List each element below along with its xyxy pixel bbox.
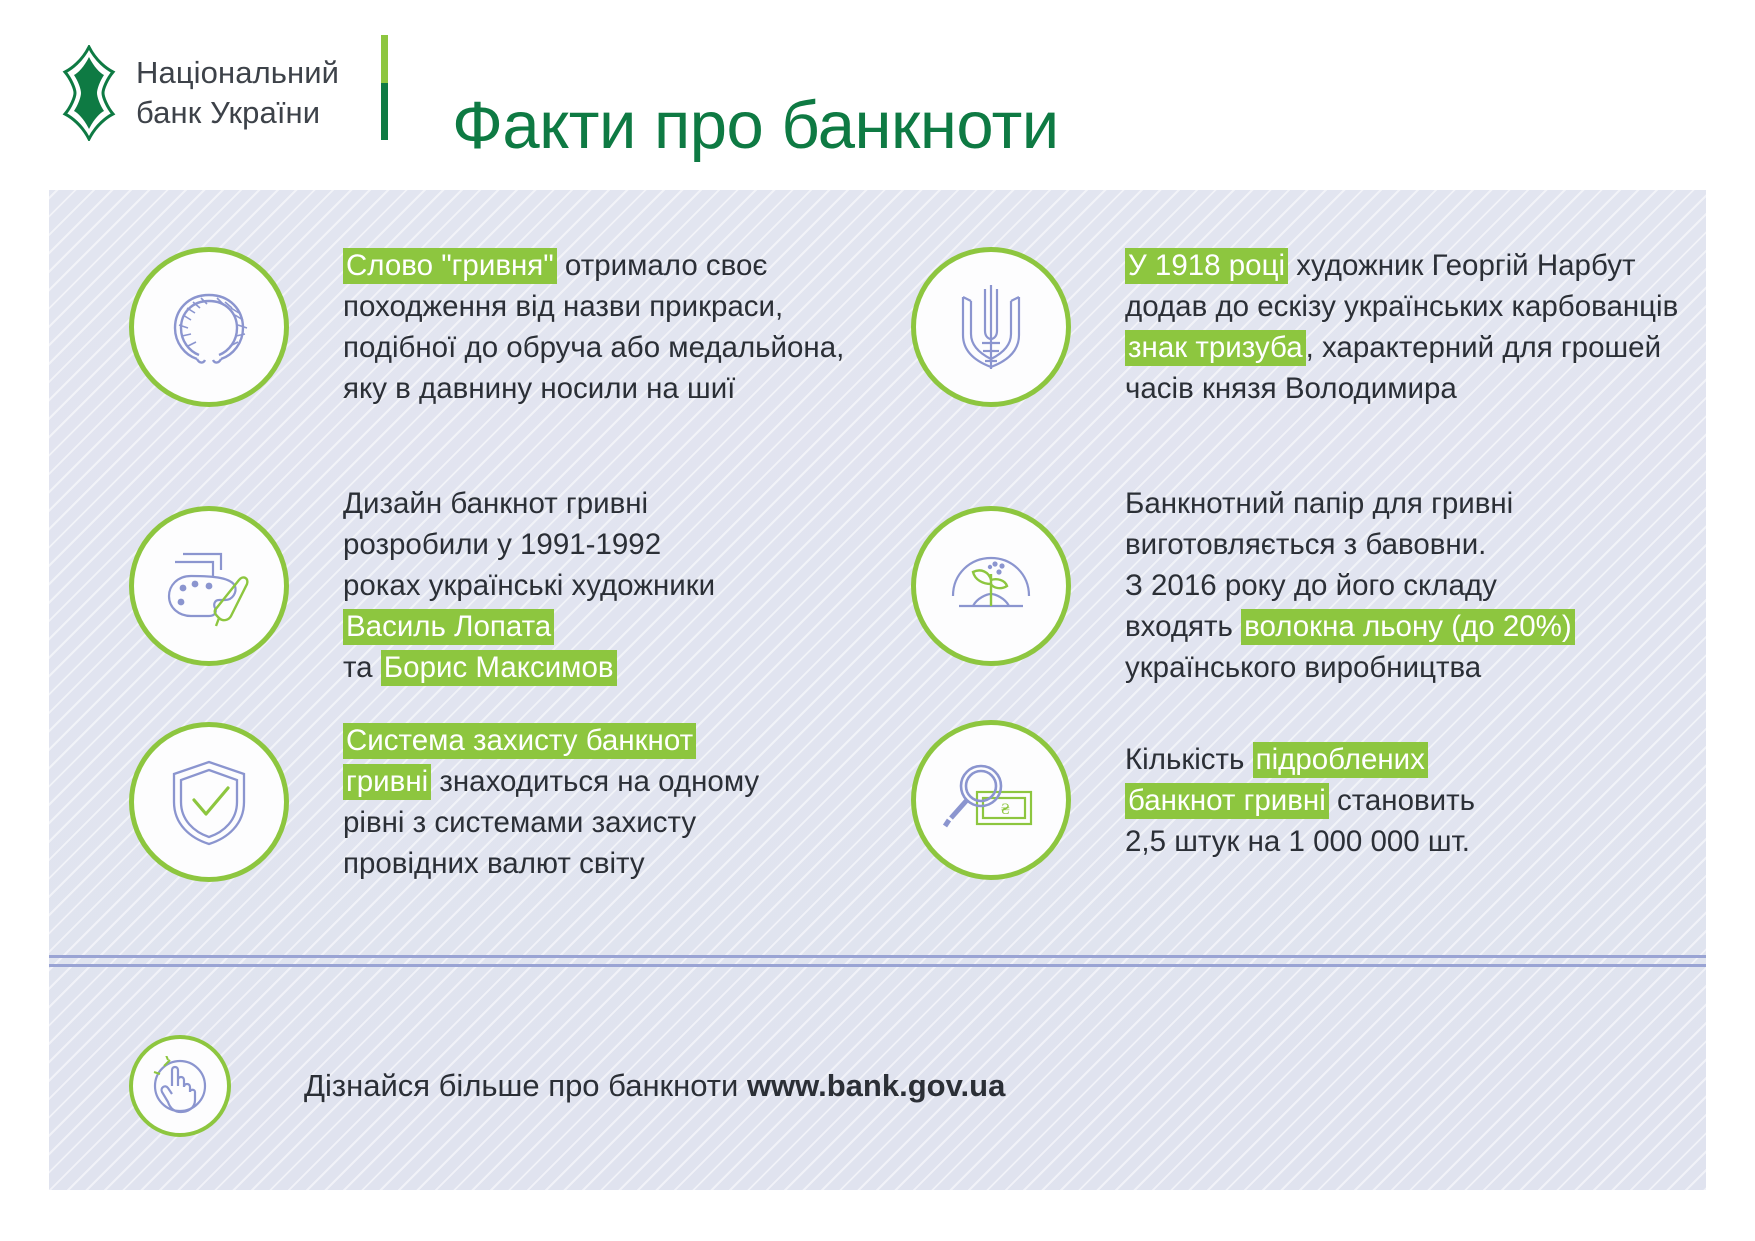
header-divider <box>381 35 388 140</box>
shield-check-icon <box>166 754 252 850</box>
fact-span: українського виробництва <box>1125 651 1481 684</box>
footer-url[interactable]: www.bank.gov.ua <box>747 1068 1005 1103</box>
fact-text-hryvnia-origin: Слово "гривня" отримало своє походження … <box>343 245 844 409</box>
fact-span: знаходиться на одному <box>431 765 759 798</box>
fact-card-banknote-design: Дизайн банкнот гривні розробили у 1991-1… <box>129 483 715 688</box>
fact-highlight: Слово "гривня" <box>343 248 557 284</box>
fact-span: додав до ескізу українських карбованців <box>1125 290 1678 323</box>
fact-span: розробили у 1991-1992 <box>343 528 661 561</box>
fact-line: яку в давнину носили на шиї <box>343 368 844 409</box>
fact-card-security-system: Система захисту банкнот гривні знаходить… <box>129 720 759 884</box>
svg-text:₴: ₴ <box>1001 801 1010 818</box>
fact-icon-badge: ₴ <box>911 720 1071 880</box>
trident-icon <box>947 279 1035 375</box>
fact-span: Кількість <box>1125 743 1253 776</box>
fact-span: роках українські художники <box>343 569 715 602</box>
fact-text-banknote-paper: Банкнотний папір для гривні виготовляєть… <box>1125 483 1575 688</box>
fact-line: гривні знаходиться на одному <box>343 761 759 802</box>
fact-highlight: Василь Лопата <box>343 609 554 645</box>
fact-span: художник Георгій Нарбут <box>1288 249 1635 282</box>
fact-line: Кількість підроблених <box>1125 739 1475 780</box>
fact-line: походження від назви прикраси, <box>343 286 844 327</box>
fact-span: З 2016 року до його складу <box>1125 569 1497 602</box>
fact-line: роках українські художники <box>343 565 715 606</box>
fact-icon-badge <box>129 506 289 666</box>
fact-line: та Борис Максимов <box>343 647 715 688</box>
fact-line: банкнот гривні становить <box>1125 780 1475 821</box>
fact-line: Дизайн банкнот гривні <box>343 483 715 524</box>
fact-span: яку в давнину носили на шиї <box>343 372 735 405</box>
fact-line: розробили у 1991-1992 <box>343 524 715 565</box>
fact-icon-badge <box>911 247 1071 407</box>
fact-span: подібної до обруча або медальйона, <box>343 331 844 364</box>
nbu-shield-logo-icon <box>62 45 116 141</box>
fact-span: Дизайн банкнот гривні <box>343 487 648 520</box>
nbu-logo-text: Національнийбанк України <box>136 53 339 132</box>
sprout-icon <box>943 540 1039 632</box>
fact-card-banknote-paper: Банкнотний папір для гривні виготовляєть… <box>911 483 1575 688</box>
nbu-logo-line2: банк України <box>136 95 320 130</box>
fact-span: та <box>343 651 381 684</box>
magnifier-banknote-icon: ₴ <box>941 754 1041 846</box>
fact-span: становить <box>1329 784 1475 817</box>
footer-icon-badge <box>129 1035 231 1137</box>
facts-board: Слово "гривня" отримало своє походження … <box>49 190 1706 1190</box>
fact-span: рівні з системами захисту <box>343 806 696 839</box>
fact-line: Василь Лопата <box>343 606 715 647</box>
palette-brush-icon <box>161 540 257 632</box>
fact-highlight: банкнот гривні <box>1125 783 1329 819</box>
fact-highlight: Система захисту банкнот <box>343 723 696 759</box>
fact-line: Система захисту банкнот <box>343 720 759 761</box>
fact-highlight: волокна льону (до 20%) <box>1241 609 1575 645</box>
fact-line: часів князя Володимира <box>1125 368 1678 409</box>
header-divider-top <box>381 35 388 83</box>
fact-span: отримало своє <box>557 249 768 282</box>
fact-text-banknote-design: Дизайн банкнот гривні розробили у 1991-1… <box>343 483 715 688</box>
footer-cta: Дізнайся більше про банкноти www.bank.go… <box>49 1035 1706 1137</box>
fact-line: додав до ескізу українських карбованців <box>1125 286 1678 327</box>
footer-text: Дізнайся більше про банкноти www.bank.go… <box>304 1068 1005 1104</box>
nbu-logo: Національнийбанк України <box>62 45 339 141</box>
fact-line: подібної до обруча або медальйона, <box>343 327 844 368</box>
fact-line: входять волокна льону (до 20%) <box>1125 606 1575 647</box>
fact-line: провідних валют світу <box>343 843 759 884</box>
header-divider-bottom <box>381 83 388 140</box>
footer-divider <box>49 955 1706 967</box>
fact-highlight: знак тризуба <box>1125 330 1306 366</box>
fact-icon-badge <box>129 247 289 407</box>
fact-span: виготовляється з бавовни. <box>1125 528 1486 561</box>
click-hand-icon <box>150 1056 210 1116</box>
fact-text-security-system: Система захисту банкнот гривні знаходить… <box>343 720 759 884</box>
fact-highlight: У 1918 році <box>1125 248 1288 284</box>
fact-icon-badge <box>911 506 1071 666</box>
fact-line: українського виробництва <box>1125 647 1575 688</box>
fact-line: Банкнотний папір для гривні <box>1125 483 1575 524</box>
fact-card-counterfeit-rate: ₴ Кількість підроблених банкнот гривні с… <box>911 720 1475 880</box>
fact-highlight: Борис Максимов <box>381 650 617 686</box>
page-title: Факти про банкноти <box>452 92 1059 159</box>
fact-span: походження від назви прикраси, <box>343 290 783 323</box>
fact-text-narbut-trident: У 1918 році художник Георгій Нарбут дода… <box>1125 245 1678 409</box>
fact-highlight: гривні <box>343 764 431 800</box>
page-header: Національнийбанк України Факти про банкн… <box>0 0 1755 185</box>
fact-line: знак тризуба, характерний для грошей <box>1125 327 1678 368</box>
fact-span: , характерний для грошей <box>1306 331 1661 364</box>
fact-highlight: підроблених <box>1253 742 1428 778</box>
fact-span: провідних валют світу <box>343 847 645 880</box>
fact-card-hryvnia-origin: Слово "гривня" отримало своє походження … <box>129 245 844 409</box>
fact-icon-badge <box>129 722 289 882</box>
fact-span: Банкнотний папір для гривні <box>1125 487 1513 520</box>
fact-span: 2,5 штук на 1 000 000 шт. <box>1125 825 1470 858</box>
torque-necklace-icon <box>163 281 255 373</box>
fact-line: Слово "гривня" отримало своє <box>343 245 844 286</box>
fact-line: рівні з системами захисту <box>343 802 759 843</box>
fact-line: З 2016 року до його складу <box>1125 565 1575 606</box>
fact-text-counterfeit-rate: Кількість підроблених банкнот гривні ста… <box>1125 739 1475 862</box>
fact-line: виготовляється з бавовни. <box>1125 524 1575 565</box>
footer-text-plain: Дізнайся більше про банкноти <box>304 1068 747 1103</box>
fact-line: 2,5 штук на 1 000 000 шт. <box>1125 821 1475 862</box>
fact-line: У 1918 році художник Георгій Нарбут <box>1125 245 1678 286</box>
nbu-logo-line1: Національний <box>136 55 339 90</box>
fact-span: часів князя Володимира <box>1125 372 1457 405</box>
fact-span: входять <box>1125 610 1241 643</box>
fact-card-narbut-trident: У 1918 році художник Георгій Нарбут дода… <box>911 245 1678 409</box>
